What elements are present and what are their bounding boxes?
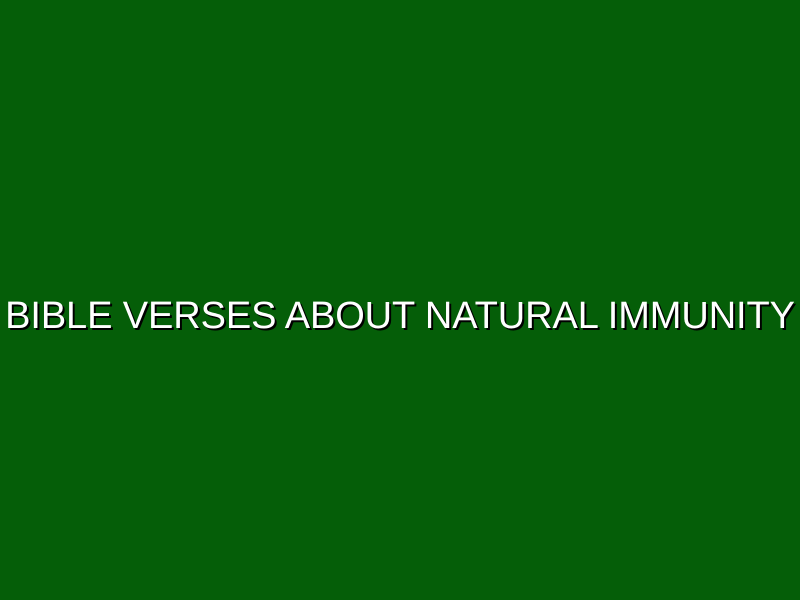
title-card-banner: BIBLE VERSES ABOUT NATURAL IMMUNITY <box>0 0 800 600</box>
headline-container: BIBLE VERSES ABOUT NATURAL IMMUNITY <box>0 272 800 361</box>
page-title: BIBLE VERSES ABOUT NATURAL IMMUNITY <box>5 297 795 335</box>
